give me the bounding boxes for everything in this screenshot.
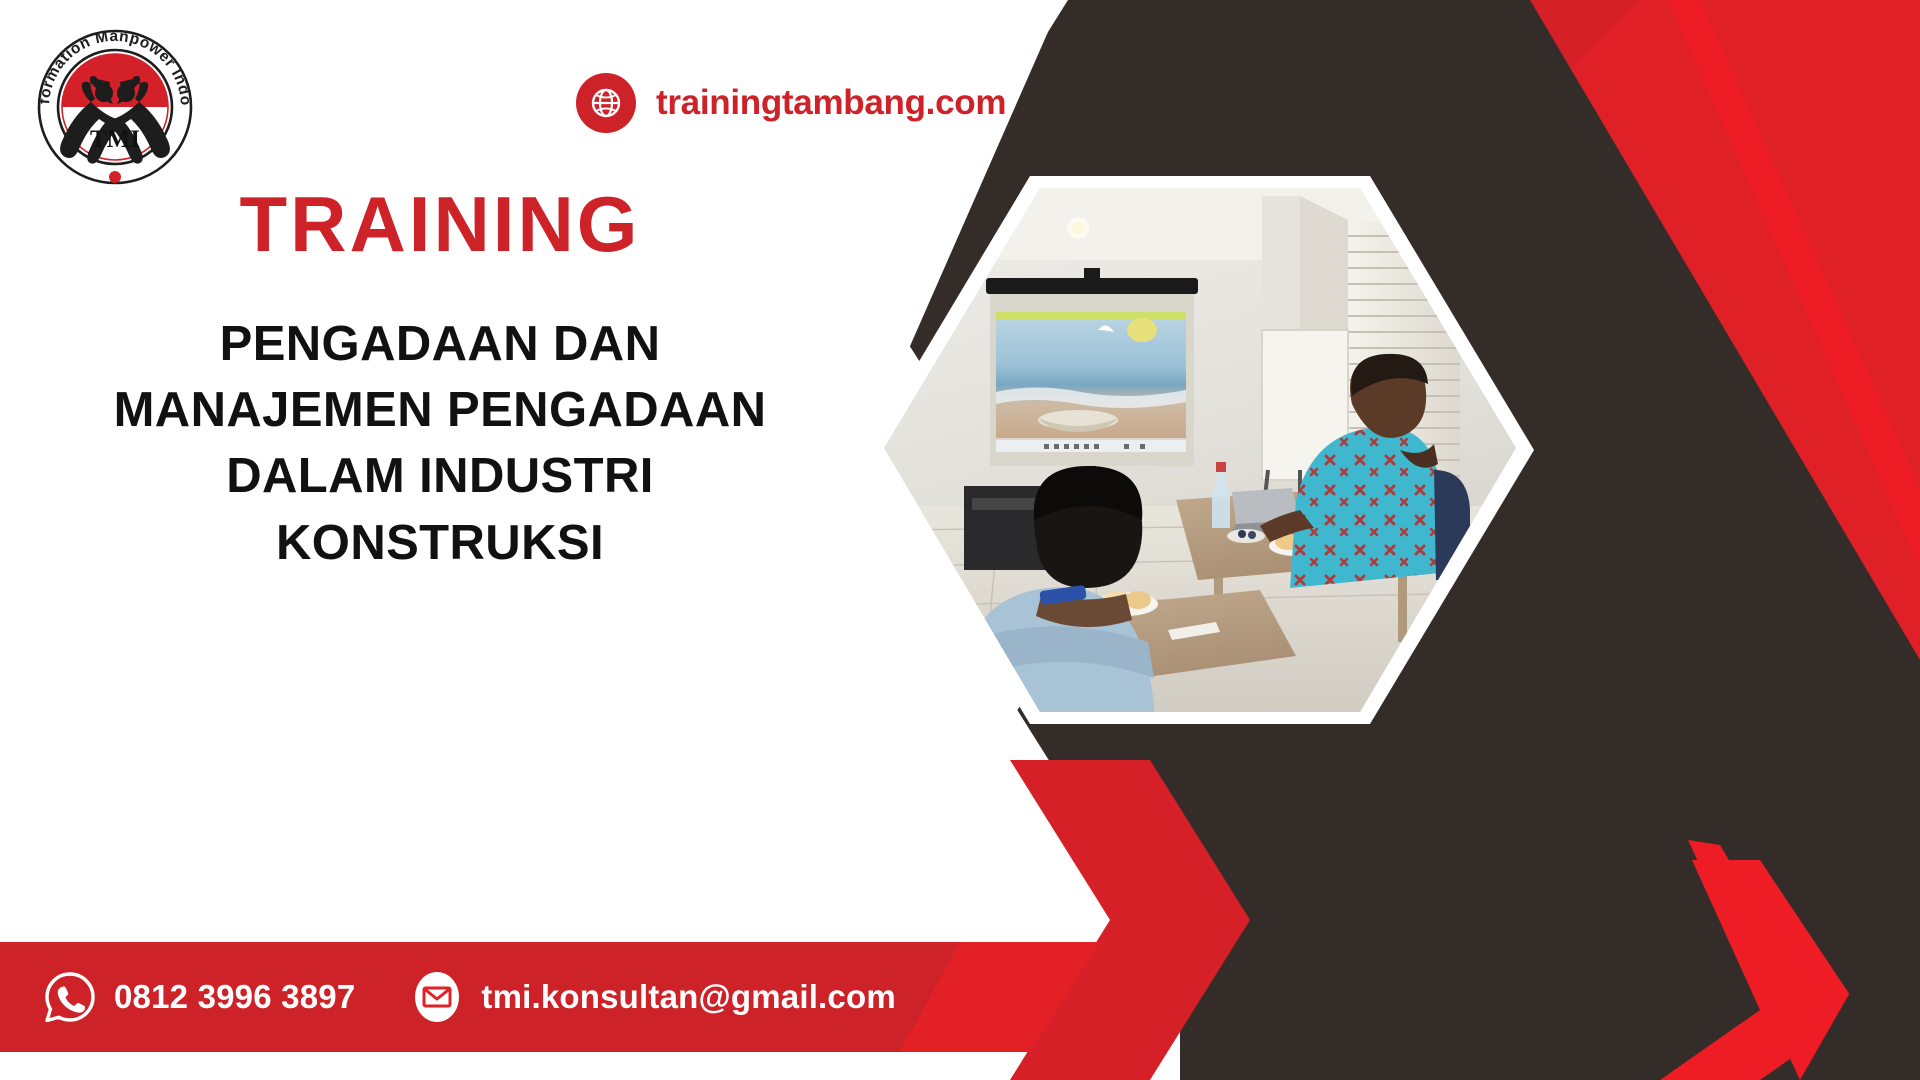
website-url[interactable]: trainingtambang.com: [656, 83, 1006, 123]
website-row[interactable]: trainingtambang.com: [576, 72, 1006, 134]
whatsapp-icon: [44, 971, 96, 1023]
contact-email[interactable]: tmi.konsultan@gmail.com: [411, 971, 896, 1023]
logo-abbr-text: TMI: [90, 126, 140, 153]
phone-number[interactable]: 0812 3996 3897: [114, 978, 355, 1016]
subtitle-line-2: MANAJEMEN PENGADAAN: [0, 379, 880, 441]
page-title: TRAINING: [0, 185, 880, 263]
contact-whatsapp[interactable]: 0812 3996 3897: [44, 971, 355, 1023]
subtitle-line-3: DALAM INDUSTRI: [0, 445, 880, 507]
tmi-logo: TMI Transformation Manpower Indonesia: [26, 18, 204, 196]
subtitle-line-1: PENGADAAN DAN: [0, 313, 880, 375]
footer-contacts: 0812 3996 3897 tmi.konsultan@gmail.com: [44, 942, 896, 1052]
subtitle-line-4: KONSTRUKSI: [0, 512, 880, 574]
email-address[interactable]: tmi.konsultan@gmail.com: [481, 978, 896, 1016]
subtitle-block: PENGADAAN DAN MANAJEMEN PENGADAAN DALAM …: [0, 313, 880, 574]
email-icon: [411, 971, 463, 1023]
training-poster: TMI Transformation Manpower Indonesia tr…: [0, 0, 1920, 1080]
globe-icon: [576, 73, 636, 133]
headline-block: TRAINING PENGADAAN DAN MANAJEMEN PENGADA…: [0, 185, 880, 574]
